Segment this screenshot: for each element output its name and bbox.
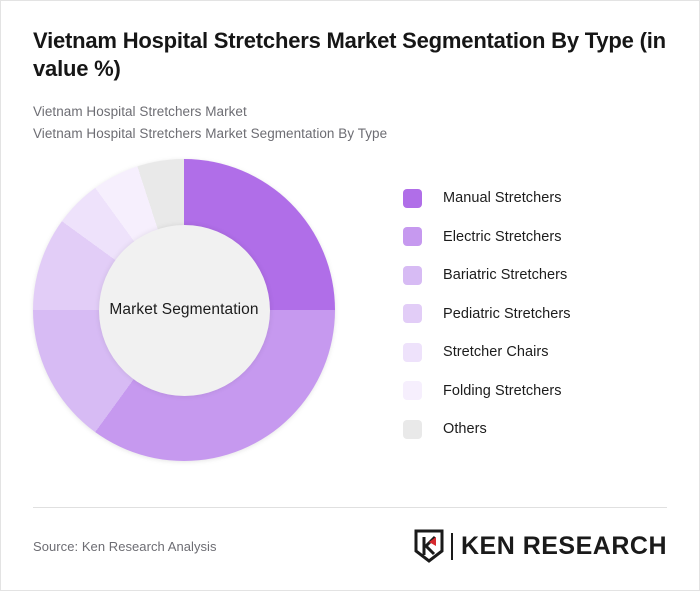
legend-label: Electric Stretchers <box>443 229 562 245</box>
brand-name: KEN RESEARCH <box>461 534 667 559</box>
page-title: Vietnam Hospital Stretchers Market Segme… <box>33 27 667 83</box>
source-note: Source: Ken Research Analysis <box>33 539 217 554</box>
legend-item[interactable]: Bariatric Stretchers <box>403 256 667 295</box>
donut-chart: Market Segmentation <box>33 159 335 461</box>
brand-divider <box>451 533 453 560</box>
legend-label: Pediatric Stretchers <box>443 306 571 322</box>
legend-swatch-icon <box>403 381 422 400</box>
legend-label: Others <box>443 421 487 437</box>
chart-area: Market Segmentation Manual StretchersEle… <box>33 159 667 461</box>
legend-swatch-icon <box>403 227 422 246</box>
donut-center-label: Market Segmentation <box>109 301 258 318</box>
footer-divider <box>33 507 667 508</box>
legend-label: Folding Stretchers <box>443 383 562 399</box>
brand-logo: KEN RESEARCH <box>414 529 667 563</box>
ken-research-shield-icon <box>414 529 444 563</box>
chart-content: Vietnam Hospital Stretchers Market Segme… <box>1 1 699 461</box>
subtitle-group: Vietnam Hospital Stretchers Market Vietn… <box>33 101 667 145</box>
legend-item[interactable]: Manual Stretchers <box>403 179 667 218</box>
subtitle-segmentation: Vietnam Hospital Stretchers Market Segme… <box>33 123 667 145</box>
legend-swatch-icon <box>403 420 422 439</box>
subtitle-market: Vietnam Hospital Stretchers Market <box>33 101 667 123</box>
legend-label: Manual Stretchers <box>443 190 562 206</box>
chart-card: Vietnam Hospital Stretchers Market Segme… <box>0 0 700 591</box>
legend-item[interactable]: Stretcher Chairs <box>403 333 667 372</box>
legend-item[interactable]: Others <box>403 410 667 449</box>
footer: Source: Ken Research Analysis KEN RESEAR… <box>33 529 667 563</box>
legend-swatch-icon <box>403 304 422 323</box>
chart-legend: Manual StretchersElectric StretchersBari… <box>403 179 667 449</box>
legend-item[interactable]: Folding Stretchers <box>403 372 667 411</box>
donut-center-label-wrap: Market Segmentation <box>101 299 266 321</box>
legend-label: Bariatric Stretchers <box>443 267 567 283</box>
legend-item[interactable]: Pediatric Stretchers <box>403 295 667 334</box>
legend-swatch-icon <box>403 266 422 285</box>
legend-label: Stretcher Chairs <box>443 344 549 360</box>
legend-swatch-icon <box>403 343 422 362</box>
legend-swatch-icon <box>403 189 422 208</box>
legend-item[interactable]: Electric Stretchers <box>403 218 667 257</box>
